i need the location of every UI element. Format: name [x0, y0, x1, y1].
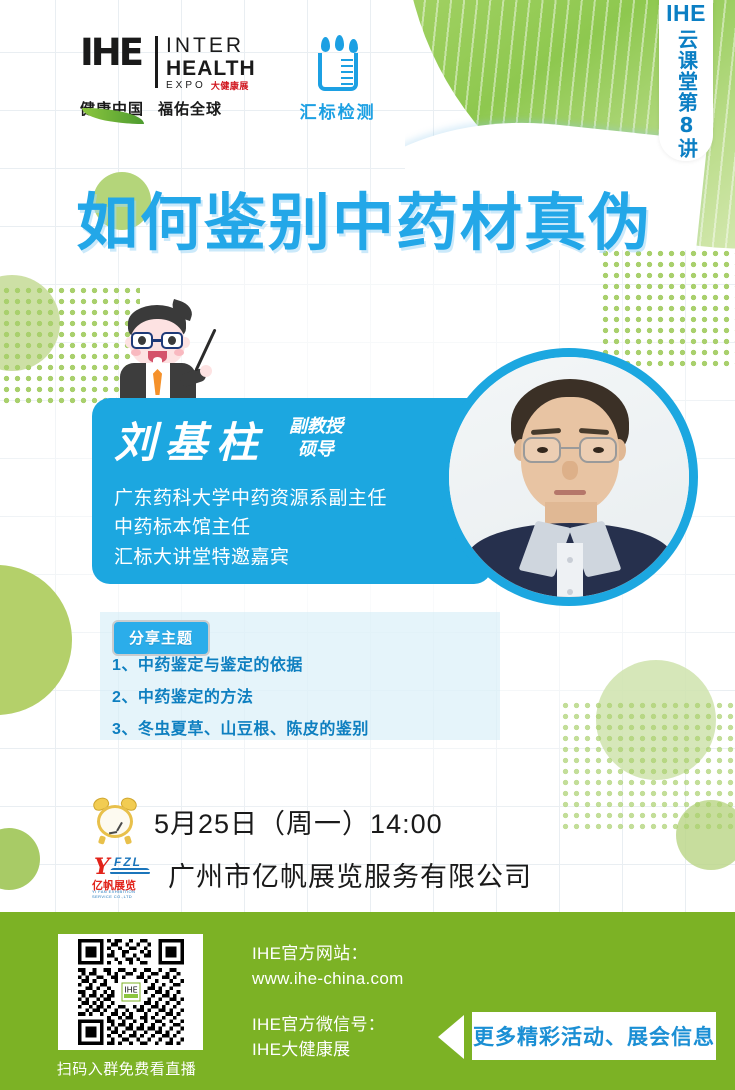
qr-section: IHE 扫码入群免费看直播 — [58, 934, 203, 1079]
huibiao-label: 汇标检测 — [300, 98, 376, 123]
ihe-wordmark: IHE — [80, 35, 147, 91]
ihe-line-health: HEALTH — [166, 58, 256, 79]
deco-dot-pattern — [560, 700, 735, 830]
qr-code-svg: IHE — [73, 939, 189, 1045]
cta-banner[interactable]: 更多精彩活动、展会信息 — [472, 1012, 716, 1060]
speaker-credential-line: 广东药科大学中药资源系副主任 — [114, 484, 387, 513]
event-datetime: 5月25日（周一）14:00 — [154, 802, 443, 841]
speaker-portrait — [440, 348, 698, 606]
speaker-credentials: 广东药科大学中药资源系副主任 中药标本馆主任 汇标大讲堂特邀嘉宾 — [114, 484, 387, 572]
wechat-value: IHE大健康展 — [252, 1038, 404, 1063]
yifan-expo-logo-icon: Y FZL 亿帆展览 YI FAN EXHIBITION SERVICE CO.… — [92, 854, 152, 894]
header-logos: IHE INTER HEALTH EXPO 大健康展 健康中国 福佑全球 — [80, 35, 376, 123]
speaker-rank-line1: 副教授 — [289, 416, 343, 439]
speaker-name: 刘基柱 — [114, 422, 267, 464]
badge-brand-label: IHE — [666, 2, 706, 25]
yifan-logo-latin: FZL — [114, 855, 142, 869]
logo-divider — [155, 36, 158, 88]
event-organizer-row: Y FZL 亿帆展览 YI FAN EXHIBITION SERVICE CO.… — [92, 854, 532, 894]
footer-contact: IHE官方网站： www.ihe-china.com IHE官方微信号： IHE… — [252, 942, 404, 1063]
website-label: IHE官方网站： — [252, 942, 404, 967]
event-info: 5月25日（周一）14:00 Y FZL 亿帆展览 YI FAN EXHIBIT… — [92, 798, 532, 904]
course-series-badge: IHE 云课堂第8讲 — [659, 0, 713, 161]
speaker-rank-line2: 硕导 — [298, 439, 334, 462]
play-triangle-icon — [438, 1015, 464, 1059]
topic-item: 2、中药鉴定的方法 — [112, 690, 369, 706]
topics-panel: 分享主题 1、中药鉴定与鉴定的依据 2、中药鉴定的方法 3、冬虫夏草、山豆根、陈… — [100, 612, 500, 740]
ihe-logo: IHE INTER HEALTH EXPO 大健康展 健康中国 福佑全球 — [80, 35, 256, 119]
alarm-clock-icon — [92, 798, 138, 844]
topics-tag: 分享主题 — [112, 620, 210, 656]
poster-root: IHE 云课堂第8讲 IHE INTER HEALTH EXPO 大健康展 健康… — [0, 0, 735, 1090]
topic-item: 1、中药鉴定与鉴定的依据 — [112, 658, 369, 674]
svg-text:IHE: IHE — [124, 985, 137, 994]
huibiao-logo: 汇标检测 — [300, 37, 376, 123]
beaker-icon — [308, 37, 368, 93]
deco-dot-pattern — [600, 248, 735, 368]
website-value[interactable]: www.ihe-china.com — [252, 967, 404, 992]
ihe-expo-cn: 大健康展 — [211, 82, 249, 91]
event-organizer: 广州市亿帆展览服务有限公司 — [168, 855, 532, 894]
qr-caption: 扫码入群免费看直播 — [50, 1058, 203, 1079]
wave-icon — [110, 868, 150, 876]
speaker-name-row: 刘基柱 副教授 硕导 — [114, 416, 343, 464]
slogan-right: 福佑全球 — [158, 98, 222, 119]
ihe-line-inter: INTER — [166, 35, 256, 56]
speaker-rank: 副教授 硕导 — [289, 416, 343, 464]
speaker-credential-line: 中药标本馆主任 — [114, 513, 387, 542]
qr-code-icon[interactable]: IHE — [58, 934, 203, 1050]
ihe-line-expo: EXPO — [166, 81, 206, 91]
speaker-info-panel: 刘基柱 副教授 硕导 广东药科大学中药资源系副主任 中药标本馆主任 汇标大讲堂特… — [92, 398, 492, 584]
cta-label: 更多精彩活动、展会信息 — [473, 1021, 715, 1051]
page-title: 如何鉴别中药材真伪 — [76, 192, 652, 254]
topics-list: 1、中药鉴定与鉴定的依据 2、中药鉴定的方法 3、冬虫夏草、山豆根、陈皮的鉴别 — [112, 658, 369, 754]
badge-series-label: 云课堂第8讲 — [676, 29, 697, 159]
speaker-credential-line: 汇标大讲堂特邀嘉宾 — [114, 543, 387, 572]
wechat-label: IHE官方微信号： — [252, 1013, 404, 1038]
footer-bar: IHE 扫码入群免费看直播 IHE官方网站： www.ihe-china.com… — [0, 912, 735, 1090]
event-datetime-row: 5月25日（周一）14:00 — [92, 798, 532, 844]
yifan-logo-sub: YI FAN EXHIBITION SERVICE CO.,LTD — [92, 889, 152, 899]
topic-item: 3、冬虫夏草、山豆根、陈皮的鉴别 — [112, 722, 369, 738]
